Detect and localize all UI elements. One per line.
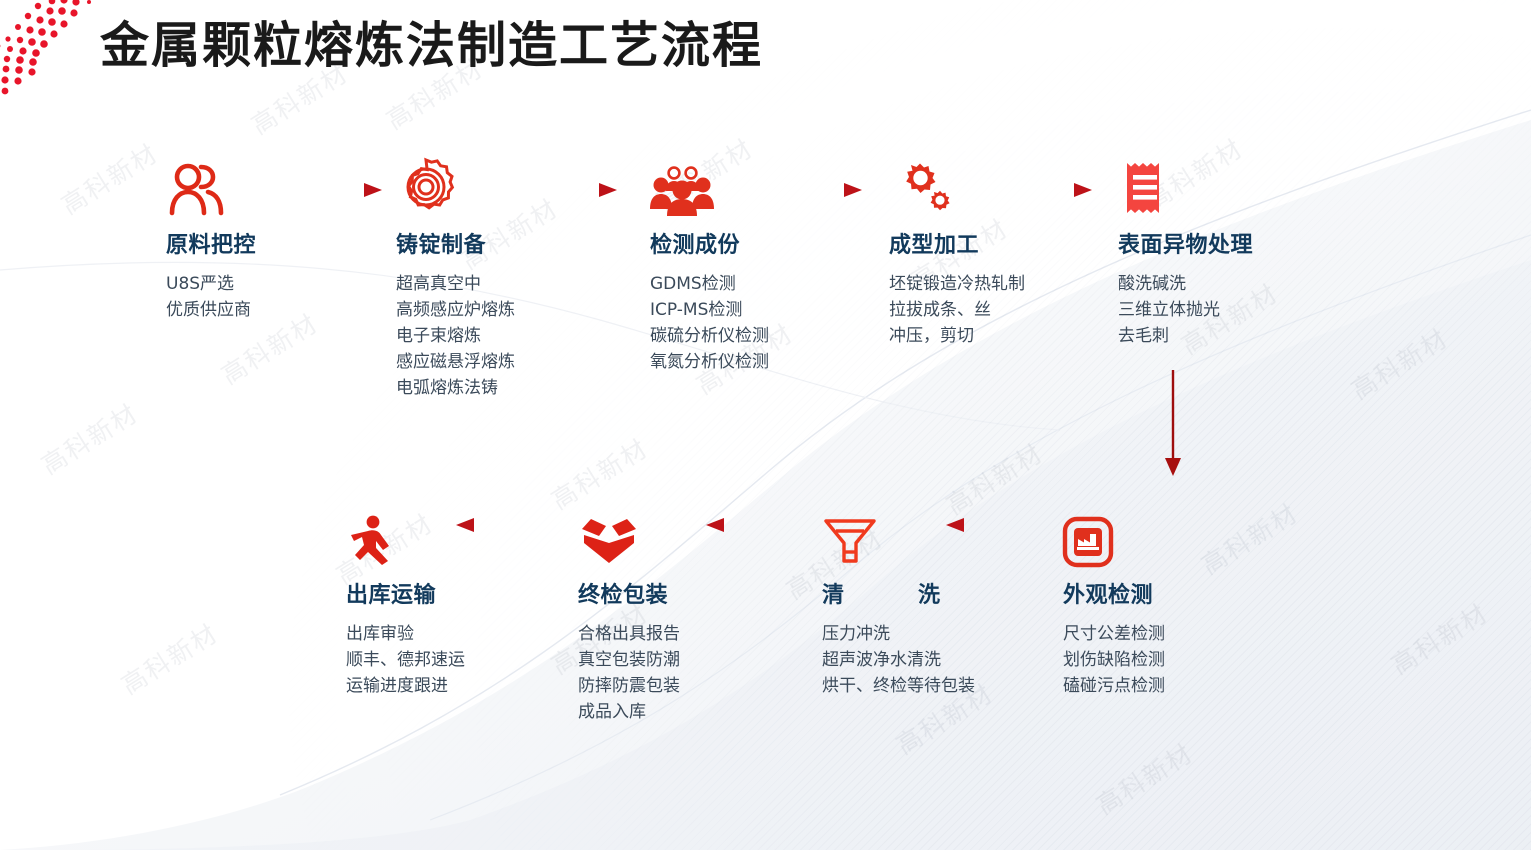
node-line: 运输进度跟进 (346, 673, 465, 699)
arrow-right-4 (990, 180, 1100, 200)
node-line: 超高真空中 (396, 271, 515, 297)
node-lines: GDMS检测 ICP-MS检测 碳硫分析仪检测 氧氮分析仪检测 (650, 271, 769, 375)
watermark-text: 高科新材 (1384, 594, 1495, 682)
node-line: 酸洗碱洗 (1118, 271, 1253, 297)
node-title: 铸锭制备 (396, 227, 515, 259)
users-outline-icon (166, 155, 256, 217)
node-title: 清 洗 (822, 577, 982, 609)
node-lines: 坯锭锻造冷热轧制 拉拔成条、丝 冲压，剪切 (889, 271, 1025, 349)
node-title: 外观检测 (1063, 577, 1165, 609)
people-group-icon (650, 155, 769, 217)
node-lines: 酸洗碱洗 三维立体抛光 去毛刺 (1118, 271, 1253, 349)
node-line: 烘干、终检等待包装 (822, 673, 982, 699)
watermark-text: 高科新材 (1344, 319, 1455, 407)
node-line: 感应磁悬浮熔炼 (396, 349, 515, 375)
node-lines: 超高真空中 高频感应炉熔炼 电子束熔炼 感应磁悬浮熔炼 电弧熔炼法铸 (396, 271, 515, 401)
node-line: 压力冲洗 (822, 621, 982, 647)
node-line: 超声波净水清洗 (822, 647, 982, 673)
flow-node-cleaning[interactable]: 清 洗 压力冲洗 超声波净水清洗 烘干、终检等待包装 (822, 505, 982, 699)
node-line: 防摔防震包装 (578, 673, 680, 699)
flow-node-appearance-inspection[interactable]: 外观检测 尺寸公差检测 划伤缺陷检测 磕碰污点检测 (1063, 505, 1165, 699)
arrow-right-1 (280, 180, 390, 200)
node-line: 成品入库 (578, 699, 680, 725)
arrow-left-2 (700, 515, 810, 535)
node-line: 出库审验 (346, 621, 465, 647)
node-title: 表面异物处理 (1118, 227, 1253, 259)
node-line: 合格出具报告 (578, 621, 680, 647)
node-lines: 出库审验 顺丰、德邦速运 运输进度跟进 (346, 621, 465, 699)
node-title: 成型加工 (889, 227, 1025, 259)
node-line: ICP-MS检测 (650, 297, 769, 323)
node-line: 顺丰、德邦速运 (346, 647, 465, 673)
node-lines: 尺寸公差检测 划伤缺陷检测 磕碰污点检测 (1063, 621, 1165, 699)
receipt-document-icon (1118, 155, 1253, 217)
node-line: 拉拔成条、丝 (889, 297, 1025, 323)
flow-node-final-inspection-packaging[interactable]: 终检包装 合格出具报告 真空包装防潮 防摔防震包装 成品入库 (578, 505, 680, 725)
node-line: 三维立体抛光 (1118, 297, 1253, 323)
flow-node-raw-material-control[interactable]: 原料把控 U8S严选 优质供应商 (166, 155, 256, 323)
node-title: 出库运输 (346, 577, 465, 609)
watermark-layer: 高科新材 高科新材 高科新材 高科新材 高科新材 高科新材 高科新材 高科新材 … (0, 0, 1531, 850)
watermark-text: 高科新材 (1194, 494, 1305, 582)
node-title: 检测成份 (650, 227, 769, 259)
gear-concentric-icon (396, 155, 515, 217)
background-stripes (0, 0, 1531, 850)
watermark-text: 高科新材 (114, 614, 225, 702)
node-line: 去毛刺 (1118, 323, 1253, 349)
flow-node-composition-inspection[interactable]: 检测成份 GDMS检测 ICP-MS检测 碳硫分析仪检测 氧氮分析仪检测 (650, 155, 769, 375)
node-title: 原料把控 (166, 227, 256, 259)
node-line: 磕碰污点检测 (1063, 673, 1165, 699)
node-line: 真空包装防潮 (578, 647, 680, 673)
node-lines: 压力冲洗 超声波净水清洗 烘干、终检等待包装 (822, 621, 982, 699)
slide-canvas: 高科新材 高科新材 高科新材 高科新材 高科新材 高科新材 高科新材 高科新材 … (0, 0, 1531, 850)
page-title: 金属颗粒熔炼法制造工艺流程 (100, 6, 763, 77)
walking-person-icon (346, 505, 465, 567)
arrow-right-3 (760, 180, 870, 200)
node-line: 高频感应炉熔炼 (396, 297, 515, 323)
node-lines: 合格出具报告 真空包装防潮 防摔防震包装 成品入库 (578, 621, 680, 725)
node-line: GDMS检测 (650, 271, 769, 297)
node-line: 电弧熔炼法铸 (396, 375, 515, 401)
node-line: 划伤缺陷检测 (1063, 647, 1165, 673)
node-line: 优质供应商 (166, 297, 256, 323)
node-line: 尺寸公差检测 (1063, 621, 1165, 647)
arrow-down-connector (1160, 370, 1186, 480)
node-line: 电子束熔炼 (396, 323, 515, 349)
watermark-text: 高科新材 (34, 394, 145, 482)
watermark-text: 高科新材 (54, 134, 165, 222)
node-line: 碳硫分析仪检测 (650, 323, 769, 349)
flow-node-surface-treatment[interactable]: 表面异物处理 酸洗碱洗 三维立体抛光 去毛刺 (1118, 155, 1253, 349)
node-line: U8S严选 (166, 271, 256, 297)
node-line: 冲压，剪切 (889, 323, 1025, 349)
arrow-left-3 (450, 515, 560, 535)
factory-badge-icon (1063, 505, 1165, 567)
open-box-icon (578, 505, 680, 567)
node-lines: U8S严选 优质供应商 (166, 271, 256, 323)
arrow-right-2 (515, 180, 625, 200)
watermark-text: 高科新材 (1089, 734, 1200, 822)
flow-node-outbound-transport[interactable]: 出库运输 出库审验 顺丰、德邦速运 运输进度跟进 (346, 505, 465, 699)
watermark-text: 高科新材 (544, 429, 655, 517)
background-wave (0, 0, 1531, 850)
flow-node-ingot-preparation[interactable]: 铸锭制备 超高真空中 高频感应炉熔炼 电子束熔炼 感应磁悬浮熔炼 电弧熔炼法铸 (396, 155, 515, 401)
node-line: 氧氮分析仪检测 (650, 349, 769, 375)
node-line: 坯锭锻造冷热轧制 (889, 271, 1025, 297)
node-title: 终检包装 (578, 577, 680, 609)
funnel-icon (822, 505, 982, 567)
